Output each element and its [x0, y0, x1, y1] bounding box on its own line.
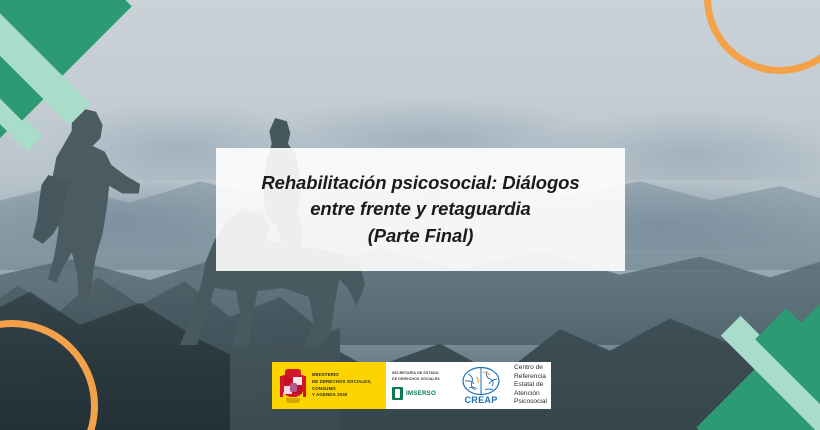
secretariat-text: SECRETARÍA DE ESTADO DE DERECHOS SOCIALE… [392, 371, 452, 381]
creap-line-1: Centro de [514, 364, 547, 372]
secretariat-logo: SECRETARÍA DE ESTADO DE DERECHOS SOCIALE… [392, 371, 452, 399]
creap-line-4: Atención [514, 390, 547, 398]
title-panel: Rehabilitación psicosocial: Diálogos ent… [216, 148, 625, 271]
creap-acronym: CREAP [465, 395, 498, 405]
creap-full-name: Centro de Referencia Estatal de Atención… [510, 364, 547, 406]
title-line-2: entre frente y retaguardia [310, 196, 531, 222]
brain-icon [461, 366, 501, 396]
creap-line-5: Psicosocial [514, 398, 547, 406]
title-line-3: (Parte Final) [368, 223, 474, 249]
ministry-line-2: DE DERECHOS SOCIALES, CONSUMO [312, 379, 386, 392]
creap-line-2: Referencia [514, 373, 547, 381]
ministry-line-3: Y AGENDA 2030 [312, 392, 386, 399]
creap-logo: CREAP [456, 366, 506, 405]
imserso-logo: IMSERSO [392, 387, 452, 400]
agency-logos: SECRETARÍA DE ESTADO DE DERECHOS SOCIALE… [386, 362, 551, 409]
title-line-1: Rehabilitación psicosocial: Diálogos [261, 170, 579, 196]
slide-canvas: Rehabilitación psicosocial: Diálogos ent… [0, 0, 820, 430]
ministry-logo: MINISTERIO DE DERECHOS SOCIALES, CONSUMO… [272, 362, 386, 409]
imserso-mark-icon [392, 387, 403, 400]
creap-line-3: Estatal de [514, 381, 547, 389]
ministry-logo-text: MINISTERIO DE DERECHOS SOCIALES, CONSUMO… [312, 372, 386, 398]
secretariat-line-2: DE DERECHOS SOCIALES [392, 377, 452, 382]
imserso-label: IMSERSO [406, 390, 436, 397]
ministry-line-1: MINISTERIO [312, 372, 386, 379]
spanish-coat-of-arms-icon [280, 369, 306, 403]
logo-bar: MINISTERIO DE DERECHOS SOCIALES, CONSUMO… [272, 362, 551, 409]
